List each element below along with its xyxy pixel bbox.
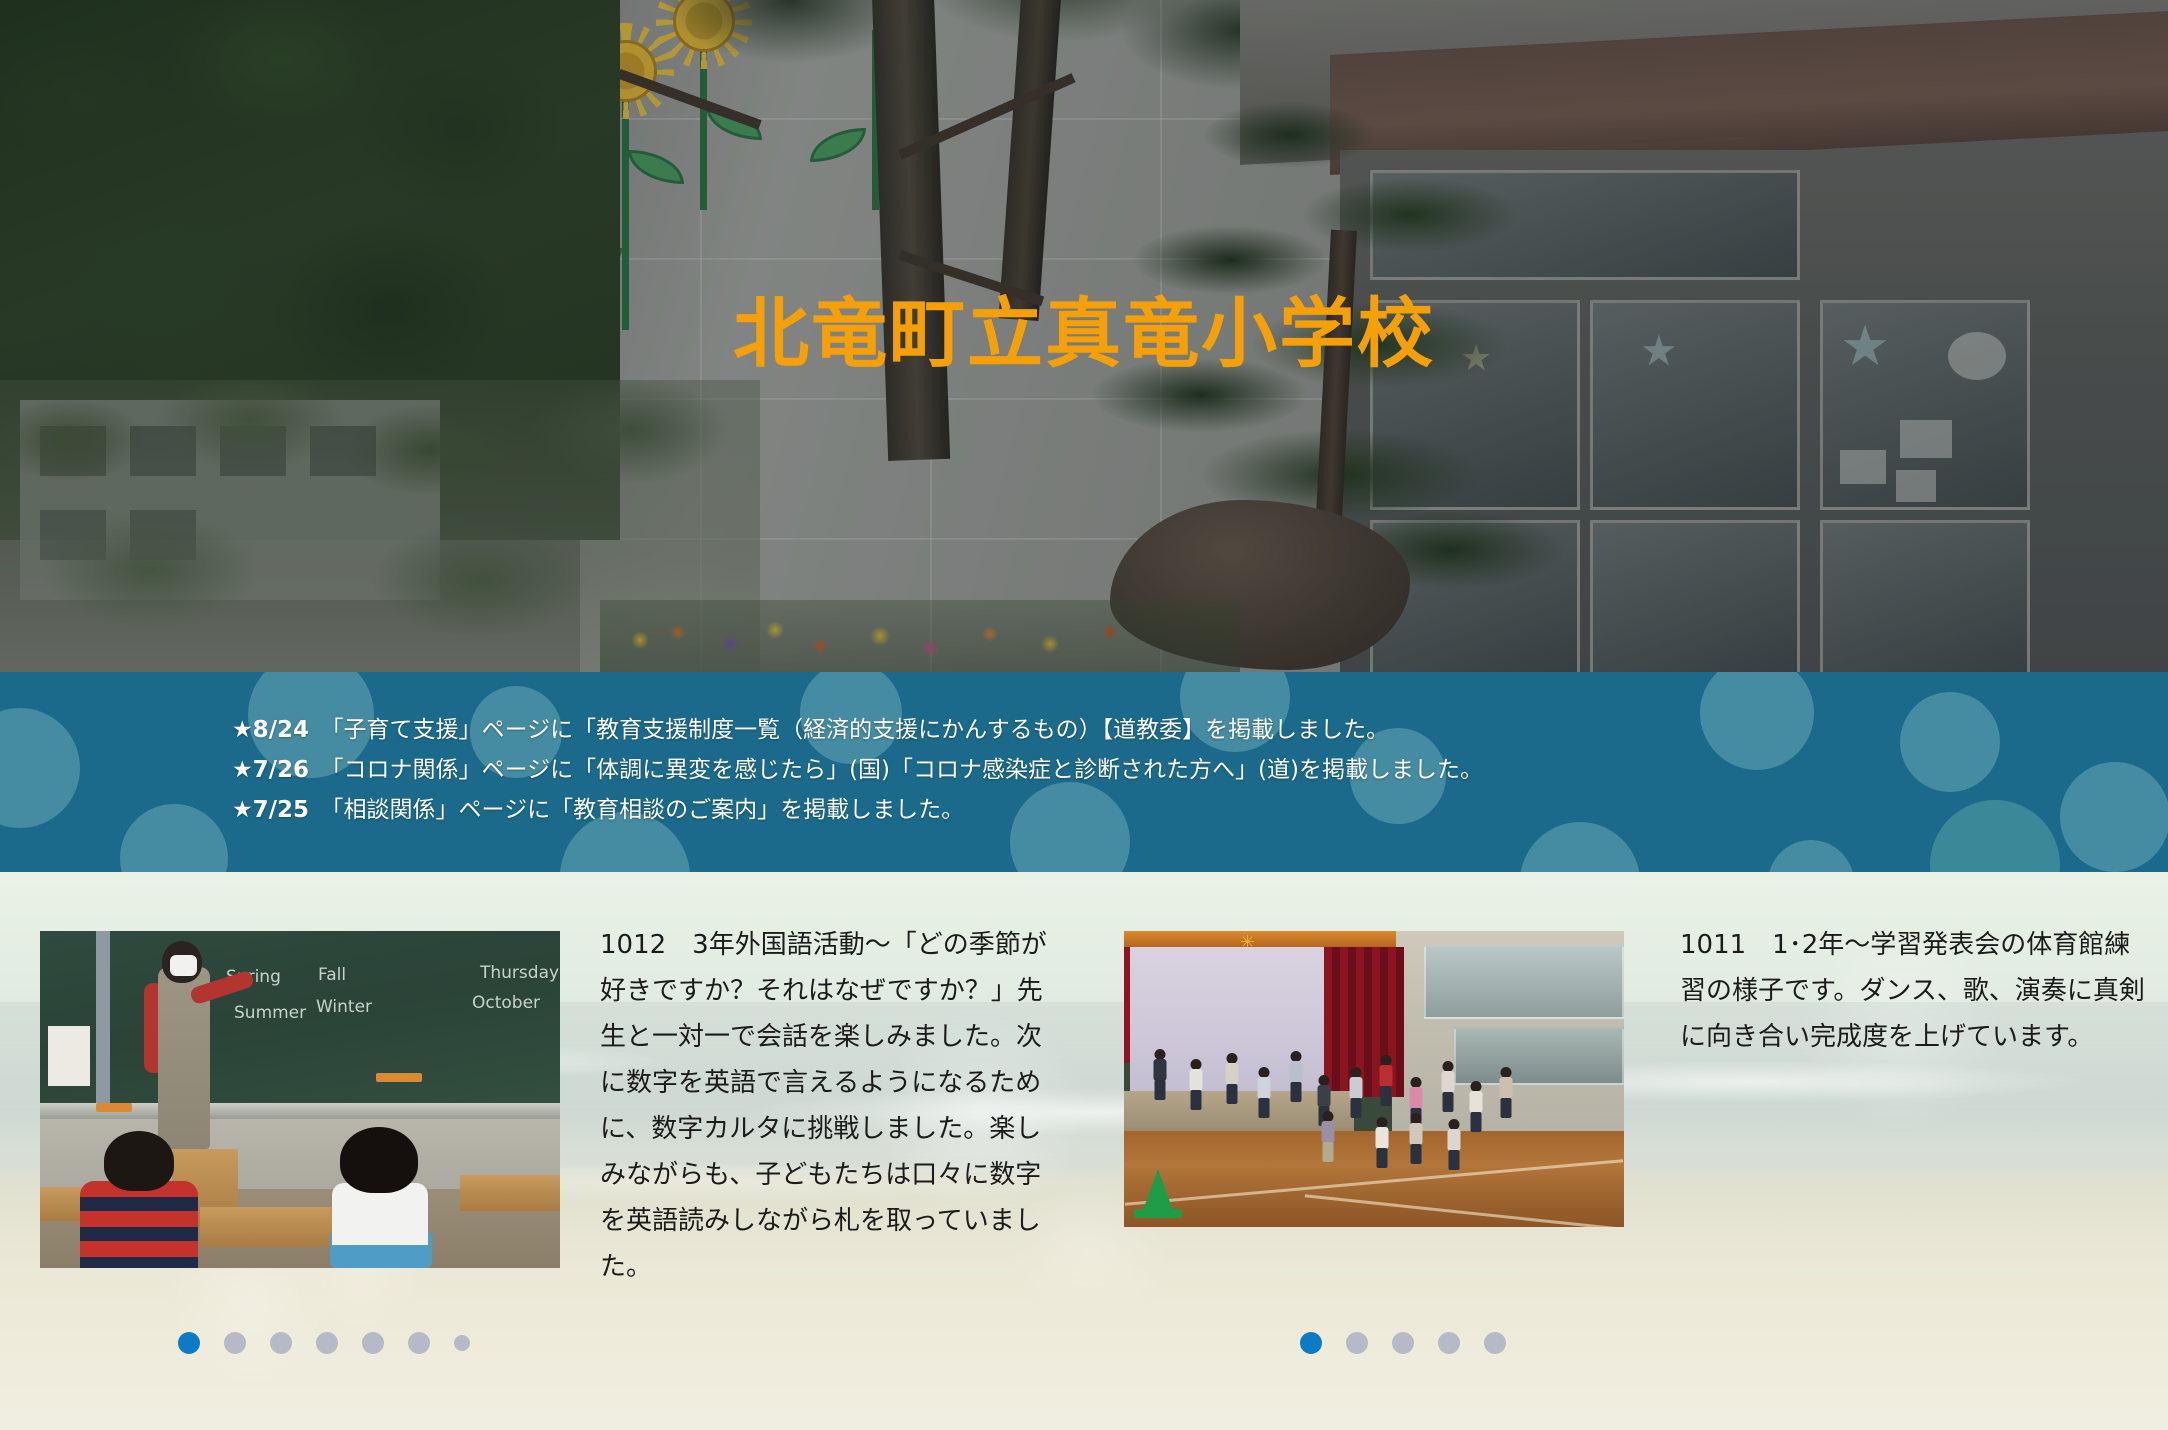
news-date-value: 7/26: [253, 757, 309, 783]
pagination-dot-1[interactable]: [224, 1332, 246, 1354]
pagination-dot-6[interactable]: [454, 1335, 470, 1351]
slider-left-caption: 1012 3年外国語活動〜「どの季節が好きですか？それはなぜですか？」先生と一対…: [600, 922, 1060, 1290]
news-text: 「子育て支援」ページに「教育支援制度一覧（経済的支援にかんするもの）【道教委】を…: [309, 717, 1389, 743]
chalk-eraser: [376, 1073, 422, 1082]
bokeh-circle: [0, 708, 80, 828]
page-title: 北竜町立真竜小学校: [0, 296, 2168, 372]
gym-window: [1424, 945, 1624, 1019]
student-head: [340, 1127, 418, 1193]
pagination-dot-1[interactable]: [1346, 1332, 1368, 1354]
blackboard: [40, 931, 560, 1117]
slider-right-caption: 1011 1･2年〜学習発表会の体育館練習の様子です。ダンス、歌、演奏に真剣に向…: [1680, 922, 2150, 1060]
chalk-eraser: [96, 1103, 132, 1112]
news-date: ★: [232, 797, 253, 823]
news-list: ★8/24 「子育て支援」ページに「教育支援制度一覧（経済的支援にかんするもの）…: [232, 710, 1483, 830]
news-item-0[interactable]: ★8/24 「子育て支援」ページに「教育支援制度一覧（経済的支援にかんするもの）…: [232, 710, 1483, 750]
page-root: ★ ★ ★ 北竜町立真: [0, 0, 2168, 1430]
bokeh-circle: [1700, 672, 1814, 770]
news-date: ★: [232, 757, 253, 783]
slider-right-pagination[interactable]: [1300, 1332, 1506, 1354]
blackboard-word: Thursday: [480, 963, 559, 983]
traffic-cone: [1142, 1169, 1174, 1213]
traffic-cone-base: [1134, 1209, 1182, 1218]
slider-left: Spring Fall Summer Winter Thursday Octob…: [0, 872, 1084, 1430]
stage-valance: [1124, 931, 1396, 947]
slider-right: ✳: [1084, 872, 2168, 1430]
news-text: 「相談関係」ページに「教育相談のご案内」を掲載しました。: [309, 797, 964, 823]
news-date: ★: [232, 717, 253, 743]
blackboard-word: Winter: [316, 997, 372, 1017]
bokeh-circle: [1768, 840, 1854, 872]
student-desk: [460, 1175, 560, 1211]
gym-floor: [1124, 1131, 1624, 1227]
student-body: [80, 1181, 198, 1268]
pagination-dot-2[interactable]: [270, 1332, 292, 1354]
gym-window: [1454, 1027, 1624, 1085]
blackboard-word: Summer: [234, 1003, 306, 1023]
bokeh-circle: [1930, 800, 2060, 872]
pagination-dot-3[interactable]: [316, 1332, 338, 1354]
hero-banner: ★ ★ ★ 北竜町立真: [0, 0, 2168, 672]
blackboard-word: Fall: [318, 965, 346, 985]
bokeh-circle: [120, 804, 228, 872]
news-date-value: 8/24: [253, 717, 309, 743]
pagination-dot-3[interactable]: [1438, 1332, 1460, 1354]
face-mask: [170, 955, 197, 976]
wall-poster: [48, 1026, 90, 1086]
bokeh-circle: [2060, 762, 2168, 872]
door-frame: [96, 931, 110, 1117]
news-item-1[interactable]: ★7/26 「コロナ関係」ページに「体調に異変を感じたら」(国)「コロナ感染症と…: [232, 750, 1483, 790]
student-head: [104, 1131, 174, 1191]
pagination-dot-4[interactable]: [362, 1332, 384, 1354]
slider-left-photo[interactable]: Spring Fall Summer Winter Thursday Octob…: [40, 931, 560, 1268]
news-date-value: 7/25: [253, 797, 309, 823]
pagination-dot-5[interactable]: [408, 1332, 430, 1354]
blackboard-word: October: [472, 993, 540, 1013]
news-item-2[interactable]: ★7/25 「相談関係」ページに「教育相談のご案内」を掲載しました。: [232, 790, 1483, 830]
slider-right-photo[interactable]: ✳: [1124, 931, 1624, 1227]
bokeh-circle: [1520, 822, 1640, 872]
news-text: 「コロナ関係」ページに「体調に異変を感じたら」(国)「コロナ感染症と診断された方…: [309, 757, 1483, 783]
pagination-dot-4[interactable]: [1484, 1332, 1506, 1354]
pagination-dot-0[interactable]: [178, 1332, 200, 1354]
pagination-dot-2[interactable]: [1392, 1332, 1414, 1354]
pagination-dot-0[interactable]: [1300, 1332, 1322, 1354]
news-banner: ★8/24 「子育て支援」ページに「教育支援制度一覧（経済的支援にかんするもの）…: [0, 672, 2168, 872]
bokeh-circle: [1900, 692, 2000, 792]
slider-left-pagination[interactable]: [178, 1332, 470, 1354]
